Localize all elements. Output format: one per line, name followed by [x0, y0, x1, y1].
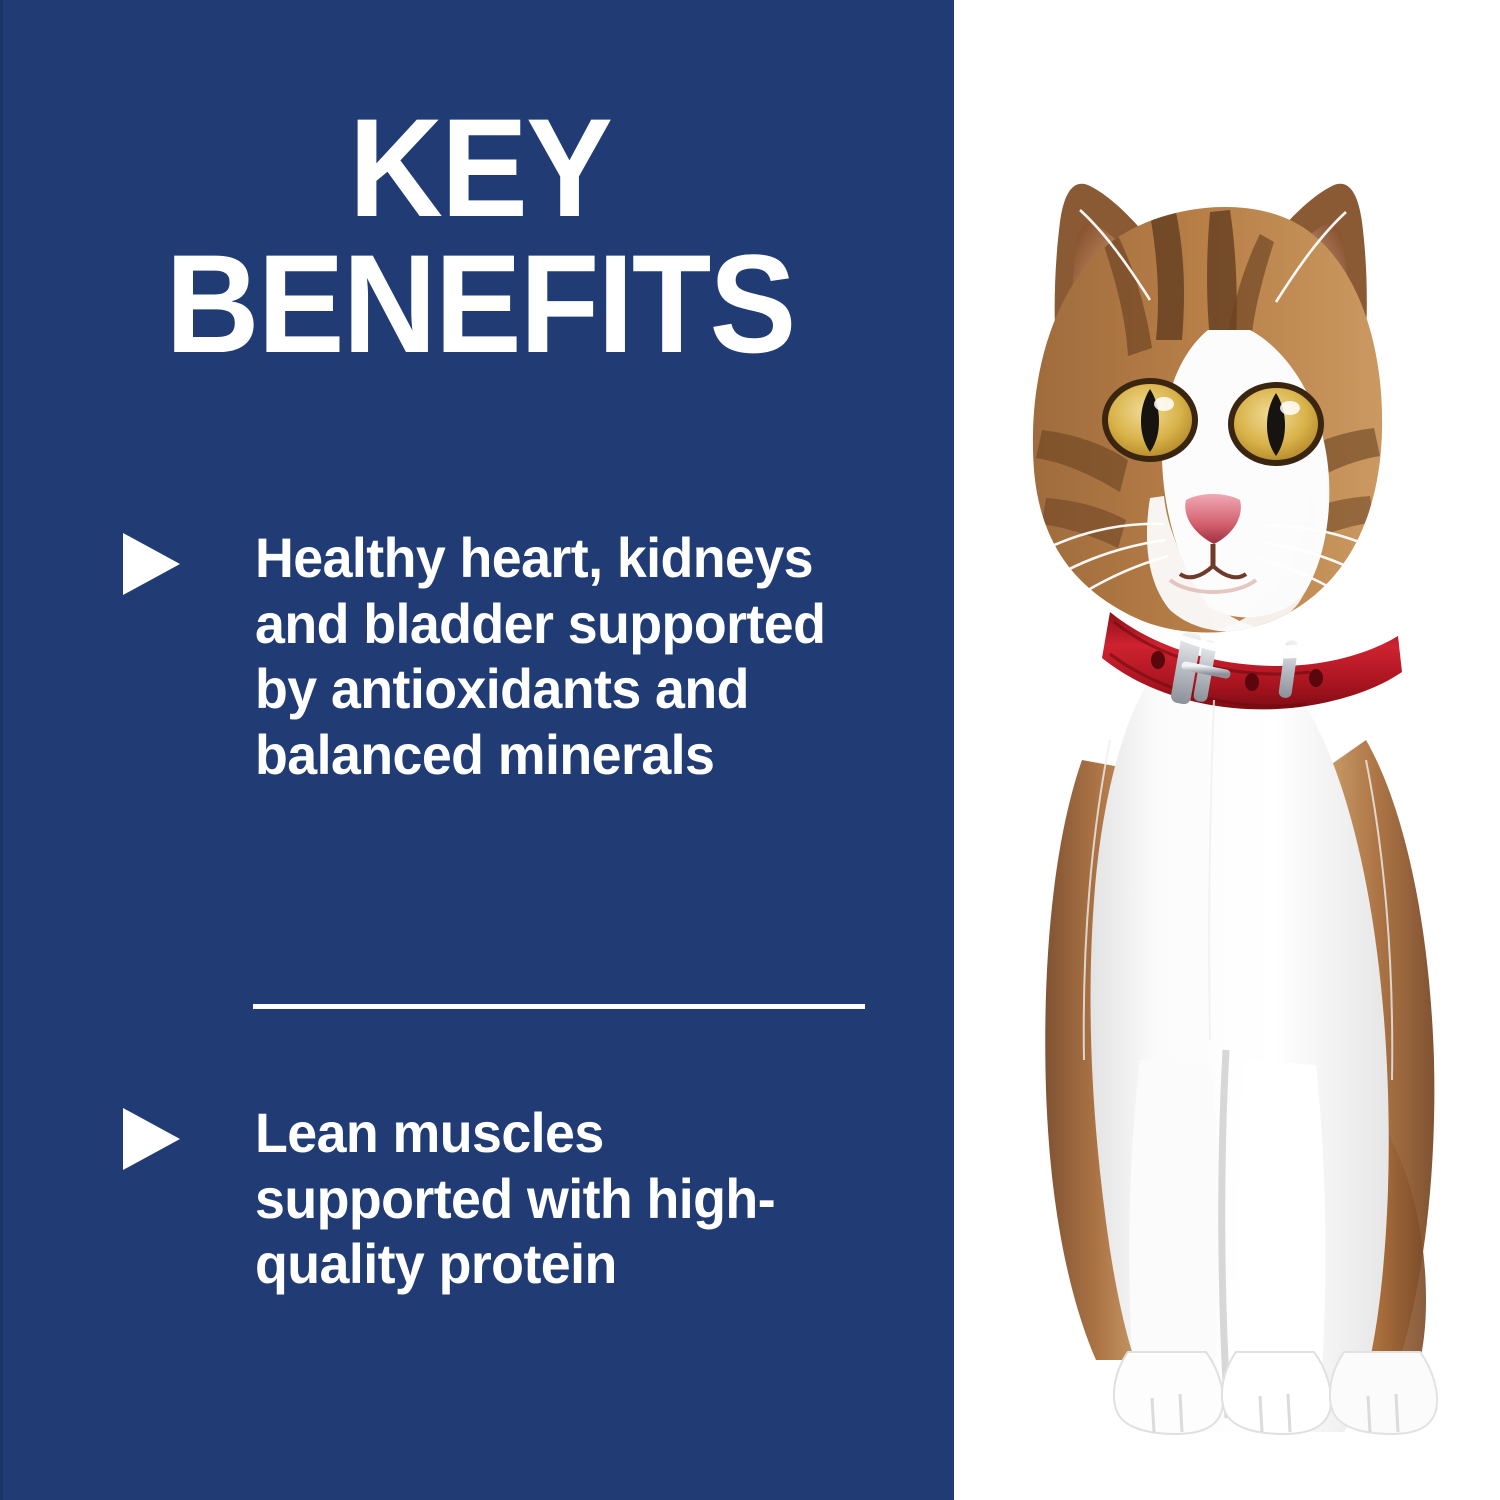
- cat-photo: [954, 0, 1500, 1500]
- triangle-right-icon: [123, 533, 180, 595]
- page-title-line-2: BENEFITS: [71, 236, 889, 372]
- benefit-item-1: Healthy heart, kidneys and bladder suppo…: [105, 525, 895, 787]
- page-title: KEY BENEFITS: [71, 100, 889, 372]
- paw-middle: [1222, 1352, 1331, 1434]
- benefit-item-1-text: Healthy heart, kidneys and bladder suppo…: [255, 525, 869, 787]
- paw-left: [1114, 1352, 1223, 1434]
- benefit-item-2-text: Lean muscles supported with high-quality…: [255, 1100, 869, 1297]
- cat-illustration: [954, 0, 1500, 1500]
- page-title-line-1: KEY: [71, 100, 889, 236]
- benefit-item-2: Lean muscles supported with high-quality…: [105, 1100, 895, 1297]
- panel-left-edge: [0, 0, 3, 1500]
- section-divider: [253, 1004, 865, 1009]
- key-benefits-panel: KEY BENEFITS Healthy heart, kidneys and …: [0, 0, 1500, 1500]
- triangle-right-icon: [123, 1108, 180, 1170]
- paw-right: [1330, 1352, 1437, 1434]
